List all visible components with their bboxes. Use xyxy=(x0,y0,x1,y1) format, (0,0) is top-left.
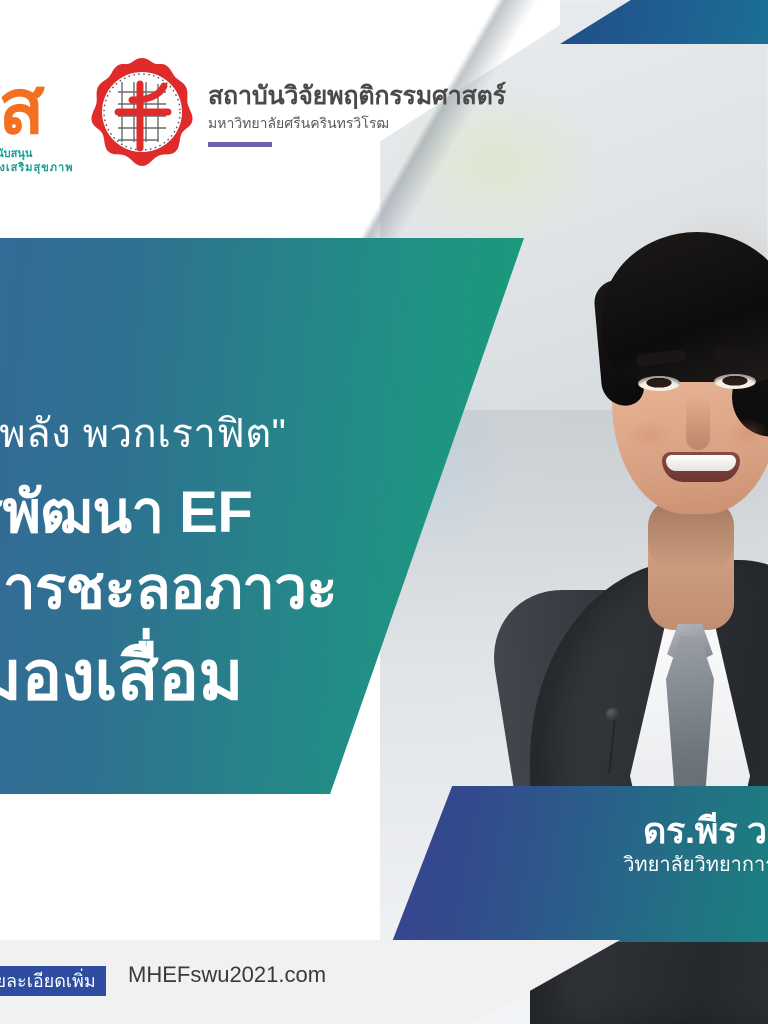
institute-block: สถาบันวิจัยพฤติกรรมศาสตร์ มหาวิทยาลัยศรี… xyxy=(208,82,538,147)
eye-left xyxy=(638,376,680,391)
institute-underline xyxy=(208,142,272,147)
title-quote-line: ฤตพลัง พวกเราฟิต" xyxy=(0,414,286,454)
title-block: ฤตพลัง พวกเราฟิต" ารพัฒนา EF อการชะลอภาว… xyxy=(0,238,470,794)
title-line-2: อการชะลอภาวะ xyxy=(0,560,337,618)
thaihealth-tagline-2: การสร้างเสริมสุขภาพ xyxy=(0,158,73,176)
poster-canvas: สส กองทุนสนับสนุน การสร้างเสริมสุขภาพ สถ… xyxy=(0,0,768,1024)
speaker-affiliation-1: วิทยาลัยวิทยาการวิจัยและวิทยาก xyxy=(623,848,768,880)
mouth xyxy=(662,452,740,482)
thaihealth-wordmark: สส xyxy=(0,70,43,146)
teeth xyxy=(666,455,736,471)
title-line-1: ารพัฒนา EF xyxy=(0,484,252,542)
nose xyxy=(686,396,710,450)
title-line-3: สมองเสื่อม xyxy=(0,642,243,710)
cheek-left xyxy=(626,420,672,450)
cheek-right xyxy=(724,418,768,448)
thaihealth-logo: สส กองทุนสนับสนุน การสร้างเสริมสุขภาพ xyxy=(0,48,72,176)
bsri-seal-logo xyxy=(88,56,196,168)
speaker-text-block: ดร.พีร วงศ์อุ วิทยาลัยวิทยาการวิจัยและวิ… xyxy=(392,786,768,942)
institute-name: สถาบันวิจัยพฤติกรรมศาสตร์ xyxy=(208,82,538,112)
eye-right xyxy=(714,374,756,389)
lapel-microphone-icon xyxy=(606,708,619,721)
university-name: มหาวิทยาลัยศรีนครินทรวิโรฒ xyxy=(208,113,538,135)
more-details-badge[interactable]: ดูรายละเอียดเพิ่ม xyxy=(0,966,106,996)
website-url[interactable]: MHEFswu2021.com xyxy=(128,962,326,988)
